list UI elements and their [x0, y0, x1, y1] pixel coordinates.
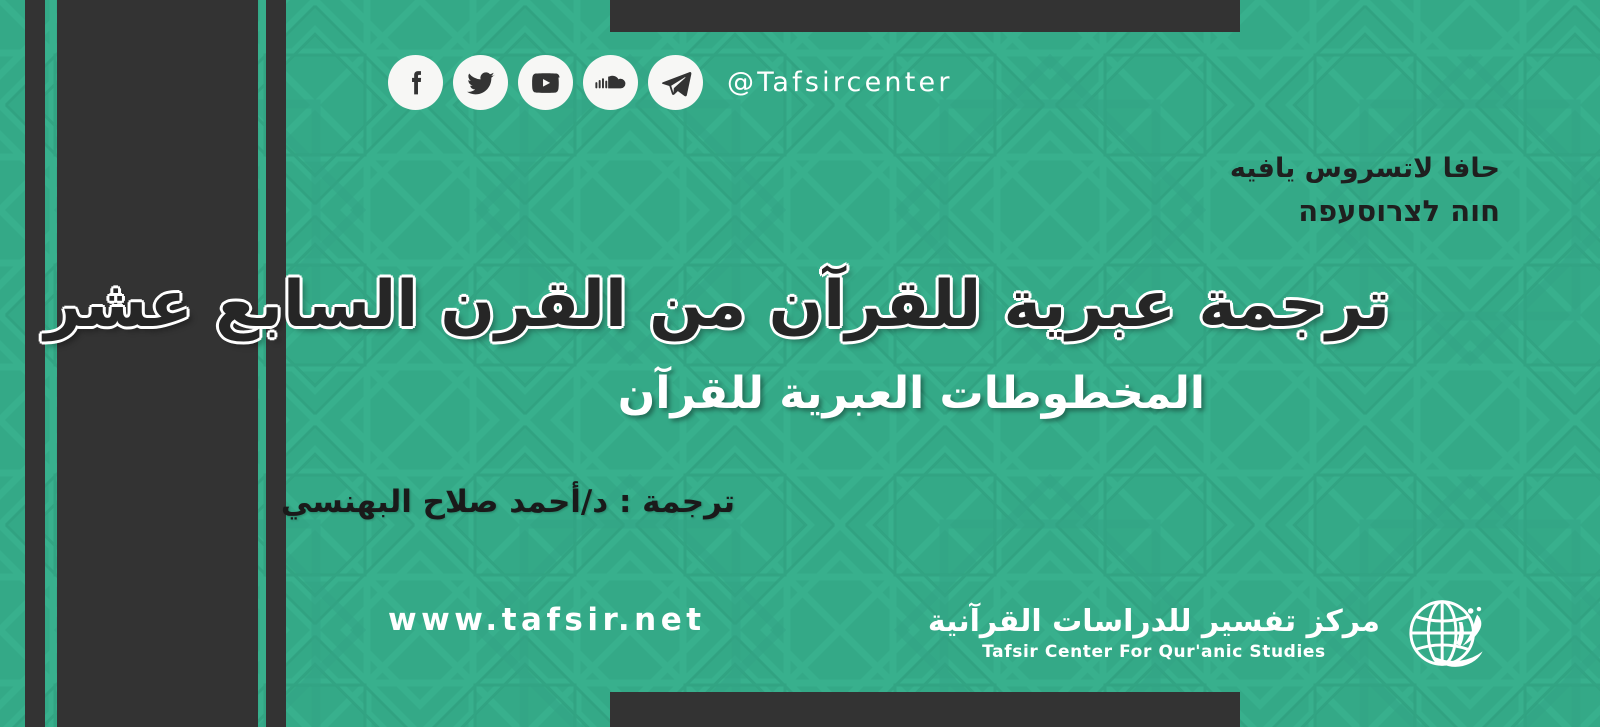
facebook-icon[interactable] — [388, 55, 443, 110]
hebrew-line-arabic: حافا لاتسروس يافيه — [1230, 152, 1500, 187]
hebrew-title-block: حافا لاتسروس يافيه חוה לצרוסעפה — [1230, 152, 1500, 230]
telegram-icon[interactable] — [648, 55, 703, 110]
youtube-icon[interactable] — [518, 55, 573, 110]
hebrew-line-hebrew: חוה לצרוסעפה — [1230, 193, 1500, 230]
logo-english-name: Tafsir Center For Qur'anic Studies — [928, 642, 1380, 662]
social-links-row: @Tafsircenter — [388, 55, 953, 110]
translator-credit: ترجمة : د/أحمد صلاح البهنسي — [281, 484, 735, 520]
social-handle-label: @Tafsircenter — [727, 67, 953, 98]
page-subtitle: المخطوطات العبرية للقرآن — [618, 368, 1205, 419]
tafsir-center-logo[interactable]: مركز تفسير للدراسات القرآنية Tafsir Cent… — [928, 587, 1490, 679]
logo-arabic-name: مركز تفسير للدراسات القرآنية — [928, 605, 1380, 638]
globe-tafsir-icon — [1398, 587, 1490, 679]
twitter-icon[interactable] — [453, 55, 508, 110]
logo-text-block: مركز تفسير للدراسات القرآنية Tafsir Cent… — [928, 605, 1380, 662]
soundcloud-icon[interactable] — [583, 55, 638, 110]
page-title: ترجمة عبرية للقرآن من القرن السابع عشر — [44, 268, 1390, 342]
website-url[interactable]: www.tafsir.net — [388, 602, 706, 638]
